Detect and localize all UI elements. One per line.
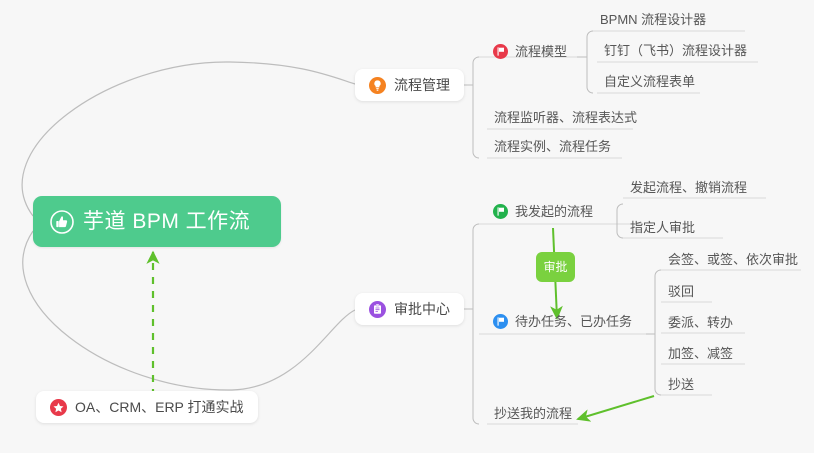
leaf-dingtalk-feishu-designer[interactable]: 钉钉（飞书）流程设计器 <box>600 44 751 62</box>
cc-link-arrow <box>578 396 654 419</box>
star-circle-icon <box>50 399 67 416</box>
leaf-delegate-transfer[interactable]: 委派、转办 <box>664 316 737 334</box>
leaf-label-countersign-orsign-sequential: 会签、或签、依次审批 <box>668 252 798 267</box>
clipboard-circle-icon <box>369 301 386 318</box>
leaf-label-cc-my-processes: 抄送我的流程 <box>494 406 572 421</box>
leaf-carbon-copy[interactable]: 抄送 <box>664 378 698 396</box>
leaf-label-todo-done-tasks: 待办任务、已办任务 <box>515 315 632 328</box>
leaf-cc-my-processes[interactable]: 抄送我的流程 <box>490 407 576 425</box>
link-todo-spine <box>655 270 661 395</box>
leaf-label-add-remove-sign: 加签、减签 <box>668 346 733 361</box>
leaf-assignee-approval[interactable]: 指定人审批 <box>626 221 699 239</box>
leaf-my-started-processes[interactable]: 我发起的流程 <box>493 204 597 224</box>
link-model-spine <box>587 31 593 93</box>
leaf-label-delegate-transfer: 委派、转办 <box>668 315 733 330</box>
leaf-label-my-started-processes: 我发起的流程 <box>515 205 593 218</box>
leaf-label-start-cancel-process: 发起流程、撤销流程 <box>630 180 747 195</box>
branch-label-process-management: 流程管理 <box>394 78 450 92</box>
root-label: 芋道 BPM 工作流 <box>83 211 250 232</box>
approval-badge: 审批 <box>536 252 575 282</box>
leaf-bpmn-designer[interactable]: BPMN 流程设计器 <box>596 13 710 31</box>
leaf-process-model[interactable]: 流程模型 <box>493 44 571 64</box>
leaf-label-process-listener-expression: 流程监听器、流程表达式 <box>494 110 637 125</box>
link-started-spine-bot <box>617 224 623 238</box>
leaf-reject[interactable]: 驳回 <box>664 285 698 303</box>
leaf-label-bpmn-designer: BPMN 流程设计器 <box>600 12 706 27</box>
link-started-spine-top <box>617 204 623 224</box>
leaf-custom-process-form[interactable]: 自定义流程表单 <box>600 75 699 93</box>
leaf-countersign-orsign-sequential[interactable]: 会签、或签、依次审批 <box>664 253 802 271</box>
flag-circle-icon <box>493 314 508 329</box>
link-pm-spine <box>473 57 479 158</box>
leaf-start-cancel-process[interactable]: 发起流程、撤销流程 <box>626 181 751 199</box>
leaf-label-process-model: 流程模型 <box>515 45 567 58</box>
flag-circle-icon <box>493 44 508 59</box>
flag-circle-icon <box>493 204 508 219</box>
leaf-label-carbon-copy: 抄送 <box>668 377 694 392</box>
leaf-label-dingtalk-feishu-designer: 钉钉（飞书）流程设计器 <box>604 43 747 58</box>
root-node[interactable]: 芋道 BPM 工作流 <box>33 196 281 247</box>
link-ac-spine <box>473 224 479 424</box>
branch-node-process-management[interactable]: 流程管理 <box>355 69 464 101</box>
leaf-add-remove-sign[interactable]: 加签、减签 <box>664 347 737 365</box>
integration-node-label: OA、CRM、ERP 打通实战 <box>75 400 244 414</box>
leaf-process-instance-task[interactable]: 流程实例、流程任务 <box>490 140 615 158</box>
leaf-todo-done-tasks[interactable]: 待办任务、已办任务 <box>493 314 636 334</box>
leaf-label-assignee-approval: 指定人审批 <box>630 220 695 235</box>
integration-node[interactable]: OA、CRM、ERP 打通实战 <box>36 391 258 423</box>
branch-label-approval-center: 审批中心 <box>394 302 450 316</box>
link-root-to-approval-center <box>23 231 355 390</box>
leaf-label-custom-process-form: 自定义流程表单 <box>604 74 695 89</box>
mindmap-canvas: 芋道 BPM 工作流 流程管理 流程模型 BPMN 流程设计器 钉钉（飞书）流程 <box>0 0 814 453</box>
lightbulb-circle-icon <box>369 77 386 94</box>
branch-node-approval-center[interactable]: 审批中心 <box>355 293 464 325</box>
leaf-process-listener-expression[interactable]: 流程监听器、流程表达式 <box>490 111 641 129</box>
leaf-label-reject: 驳回 <box>668 284 694 299</box>
thumbs-up-circle-icon <box>50 210 74 234</box>
approval-badge-label: 审批 <box>543 261 567 273</box>
link-root-to-process-management <box>22 62 355 216</box>
leaf-label-process-instance-task: 流程实例、流程任务 <box>494 139 611 154</box>
